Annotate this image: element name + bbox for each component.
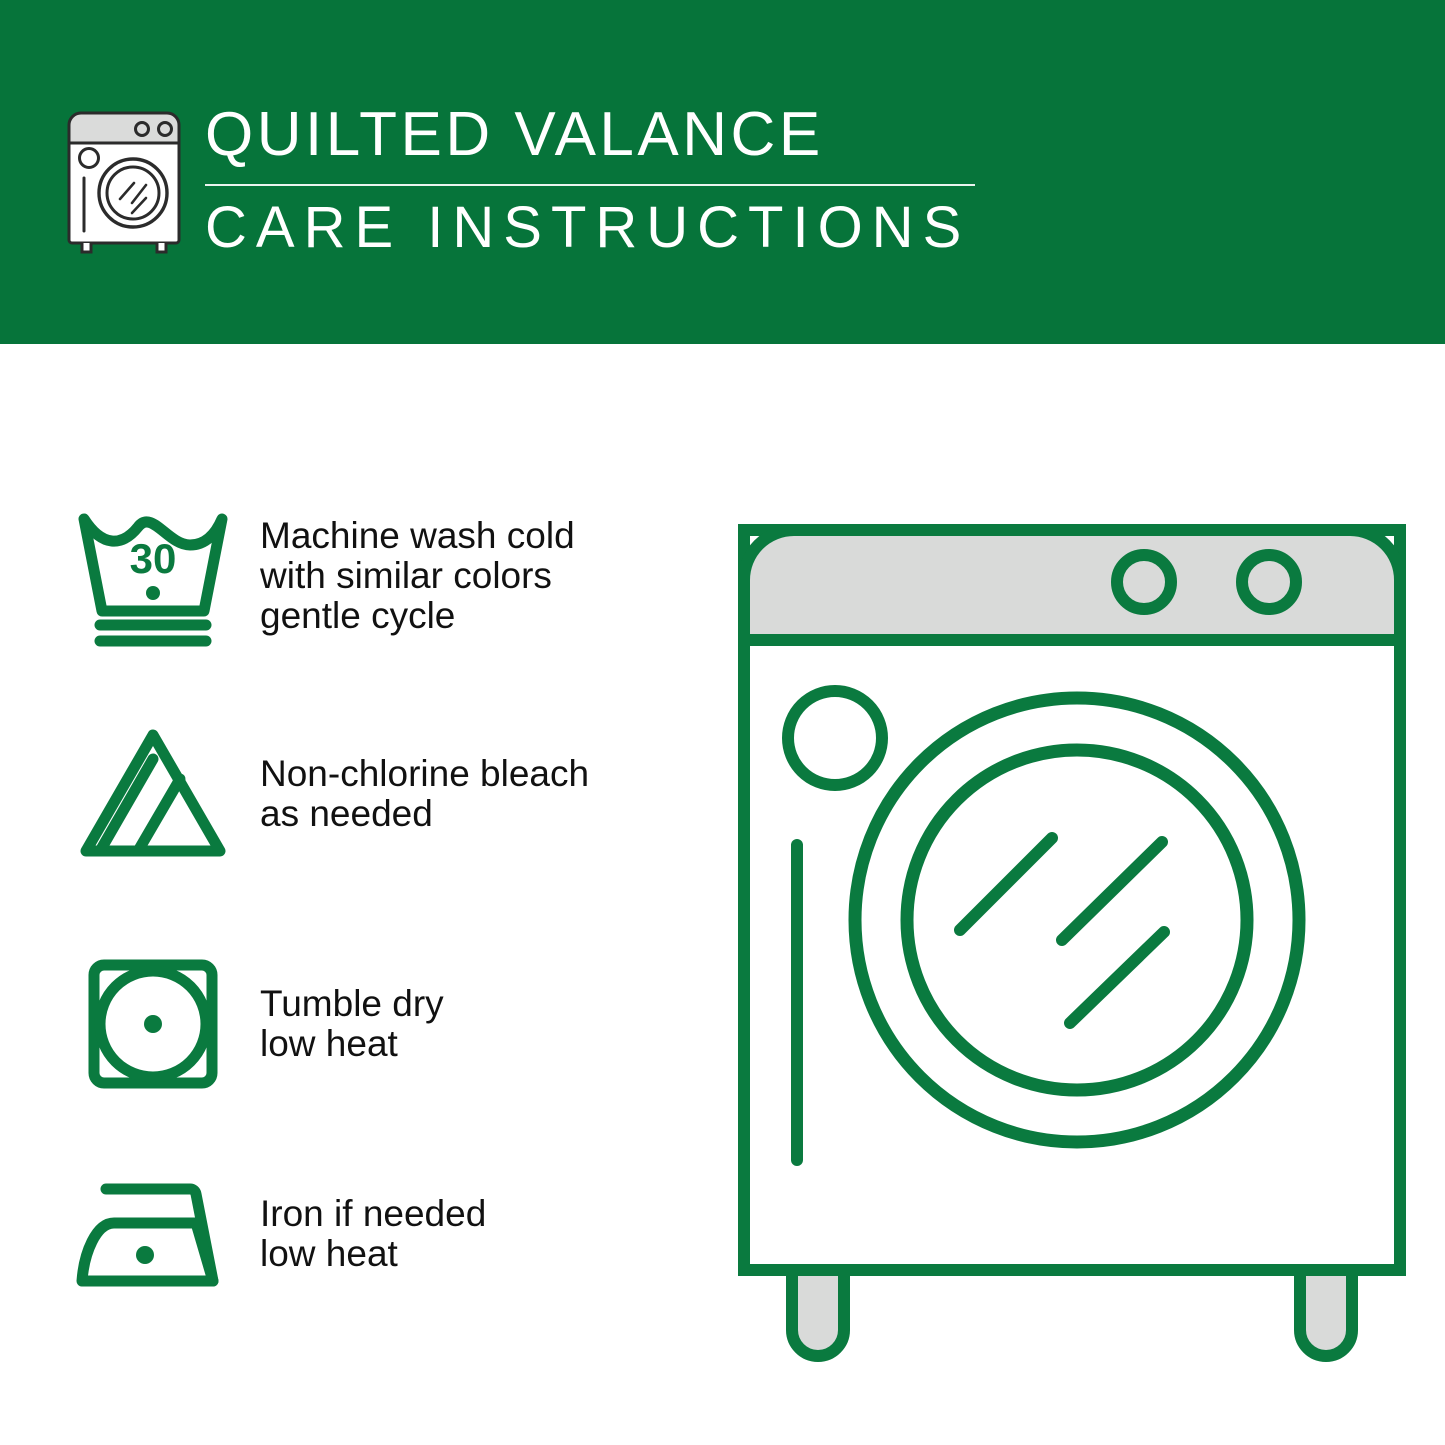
care-row-machine-wash: 30 Machine wash cold with similar colors… (0, 476, 660, 676)
care-instructions-page: QUILTED VALANCE CARE INSTRUCTIONS 30 (0, 0, 1445, 1445)
washing-machine-illustration (722, 470, 1422, 1370)
wash-tub-30-gentle-icon: 30 (68, 491, 238, 661)
care-symbol-list: 30 Machine wash cold with similar colors… (0, 344, 660, 1445)
washer-leg-right (1300, 1270, 1352, 1356)
care-label-line: Iron if needed (260, 1194, 486, 1234)
care-label-line: Non-chlorine bleach (260, 754, 589, 794)
care-label-line: low heat (260, 1234, 486, 1274)
washer-leg-left (792, 1270, 844, 1356)
washer-dispenser (788, 691, 882, 785)
care-label-iron: Iron if needed low heat (260, 1194, 486, 1274)
washer-knob-left (1117, 555, 1171, 609)
care-label-line: Tumble dry (260, 984, 444, 1024)
title-divider (205, 184, 975, 186)
washer-knob-right (1242, 555, 1296, 609)
care-label-line: Machine wash cold (260, 516, 575, 556)
non-chlorine-bleach-triangle-icon (68, 709, 238, 879)
care-label-tumble-dry: Tumble dry low heat (260, 984, 444, 1064)
care-label-machine-wash: Machine wash cold with similar colors ge… (260, 516, 575, 636)
care-row-iron: Iron if needed low heat (0, 1134, 660, 1334)
care-row-tumble-dry: Tumble dry low heat (0, 924, 660, 1124)
page-title-care: CARE INSTRUCTIONS (205, 198, 1005, 259)
care-row-bleach: Non-chlorine bleach as needed (0, 694, 660, 894)
care-label-line: low heat (260, 1024, 444, 1064)
iron-low-heat-icon (68, 1149, 238, 1319)
care-label-line: with similar colors (260, 556, 575, 596)
header-band: QUILTED VALANCE CARE INSTRUCTIONS (0, 0, 1445, 344)
page-title-product: QUILTED VALANCE (205, 104, 1005, 166)
washing-machine-logo-icon (62, 103, 186, 255)
care-label-line: as needed (260, 794, 589, 834)
header-titles: QUILTED VALANCE CARE INSTRUCTIONS (205, 104, 1005, 259)
wash-temperature-value: 30 (130, 535, 177, 582)
care-label-line: gentle cycle (260, 596, 575, 636)
tumble-dry-low-heat-icon (68, 939, 238, 1109)
care-label-bleach: Non-chlorine bleach as needed (260, 754, 589, 834)
